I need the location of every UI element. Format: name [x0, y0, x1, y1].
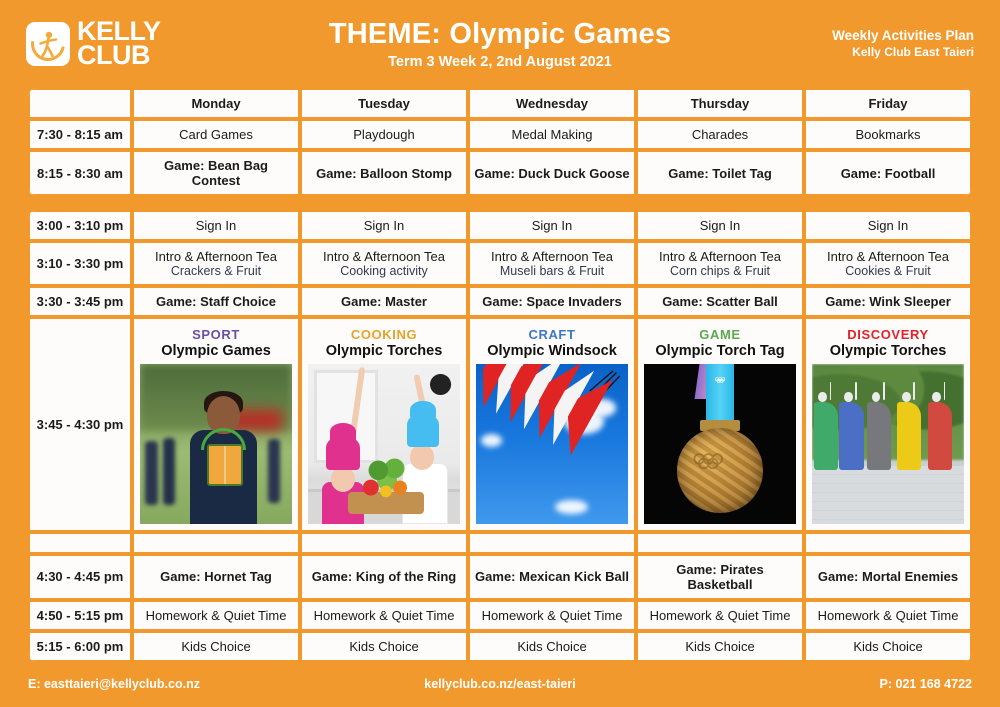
- category-label-sport: SPORT: [140, 327, 292, 343]
- gold-medal-photo: [644, 364, 796, 524]
- spacer-cell: [636, 532, 804, 554]
- tea-cell: Intro & Afternoon Tea Corn chips & Fruit: [636, 241, 804, 286]
- category-label-discovery: DISCOVERY: [812, 327, 964, 343]
- activity-block-game: GAME Olympic Torch Tag: [636, 317, 804, 532]
- spacer-cell: [468, 532, 636, 554]
- signin-cell: Sign In: [468, 210, 636, 241]
- weekly-activities-plan-page: KELLY CLUB THEME: Olympic Games Term 3 W…: [0, 0, 1000, 707]
- morning-table-wrap: Monday Tuesday Wednesday Thursday Friday…: [0, 88, 1000, 196]
- activity-cell: Card Games: [132, 119, 300, 150]
- category-label-craft: CRAFT: [476, 327, 628, 343]
- game-cell: Game: Toilet Tag: [636, 150, 804, 196]
- day-header-monday: Monday: [132, 88, 300, 119]
- homework-cell: Homework & Quiet Time: [636, 600, 804, 631]
- table-gap: [0, 196, 1000, 210]
- time-label: 3:45 - 4:30 pm: [28, 317, 132, 532]
- spacer-cell: [804, 532, 972, 554]
- spacer-cell: [28, 532, 132, 554]
- tea-sub-label: Cookies & Fruit: [810, 264, 966, 278]
- kids-choice-cell: Kids Choice: [636, 631, 804, 662]
- torch-runner-statues-photo: [812, 364, 964, 524]
- activity-title: Olympic Torch Tag: [644, 343, 796, 360]
- game-cell: Game: Football: [804, 150, 972, 196]
- footer-email[interactable]: E: easttaieri@kellyclub.co.nz: [28, 677, 340, 691]
- homework-cell: Homework & Quiet Time: [804, 600, 972, 631]
- game-cell: Game: Duck Duck Goose: [468, 150, 636, 196]
- game-cell: Game: Bean Bag Contest: [132, 150, 300, 196]
- time-label: 8:15 - 8:30 am: [28, 150, 132, 196]
- table-row: 4:30 - 4:45 pm Game: Hornet Tag Game: Ki…: [28, 554, 972, 600]
- table-row: 3:10 - 3:30 pm Intro & Afternoon Tea Cra…: [28, 241, 972, 286]
- signin-cell: Sign In: [132, 210, 300, 241]
- tea-sub-label: Crackers & Fruit: [138, 264, 294, 278]
- kelly-club-runner-logo-icon: [26, 22, 70, 66]
- kids-cooking-photo: [308, 364, 460, 524]
- spacer-cell: [132, 532, 300, 554]
- page-footer: E: easttaieri@kellyclub.co.nz kellyclub.…: [0, 661, 1000, 707]
- header-meta: Weekly Activities Plan Kelly Club East T…: [764, 28, 974, 60]
- time-label: 7:30 - 8:15 am: [28, 119, 132, 150]
- game-cell: Game: Balloon Stomp: [300, 150, 468, 196]
- table-row: 3:00 - 3:10 pm Sign In Sign In Sign In S…: [28, 210, 972, 241]
- day-header-friday: Friday: [804, 88, 972, 119]
- title-block: THEME: Olympic Games Term 3 Week 2, 2nd …: [236, 18, 764, 70]
- time-label: 4:30 - 4:45 pm: [28, 554, 132, 600]
- page-title: THEME: Olympic Games: [236, 18, 764, 51]
- time-label: 4:50 - 5:15 pm: [28, 600, 132, 631]
- kids-choice-cell: Kids Choice: [132, 631, 300, 662]
- activity-title: Olympic Windsock: [476, 343, 628, 360]
- activity-cell: Charades: [636, 119, 804, 150]
- activity-cell: Medal Making: [468, 119, 636, 150]
- activity-title: Olympic Games: [140, 343, 292, 360]
- tea-sub-label: Cooking activity: [306, 264, 462, 278]
- tea-main-label: Intro & Afternoon Tea: [642, 249, 798, 264]
- homework-cell: Homework & Quiet Time: [300, 600, 468, 631]
- game-cell: Game: King of the Ring: [300, 554, 468, 600]
- signin-cell: Sign In: [804, 210, 972, 241]
- game-cell: Game: Mexican Kick Ball: [468, 554, 636, 600]
- table-row: 8:15 - 8:30 am Game: Bean Bag Contest Ga…: [28, 150, 972, 196]
- tea-cell: Intro & Afternoon Tea Museli bars & Frui…: [468, 241, 636, 286]
- kelly-club-wordmark: KELLY CLUB: [77, 20, 161, 68]
- game-cell: Game: Mortal Enemies: [804, 554, 972, 600]
- category-label-game: GAME: [644, 327, 796, 343]
- corner-cell: [28, 88, 132, 119]
- page-subtitle: Term 3 Week 2, 2nd August 2021: [236, 54, 764, 70]
- afternoon-table-wrap: 3:00 - 3:10 pm Sign In Sign In Sign In S…: [0, 210, 1000, 662]
- activity-cell: Playdough: [300, 119, 468, 150]
- activity-block-discovery: DISCOVERY Olympic Torches: [804, 317, 972, 532]
- club-location: Kelly Club East Taieri: [764, 45, 974, 61]
- homework-cell: Homework & Quiet Time: [132, 600, 300, 631]
- activity-block-craft: CRAFT Olympic Windsock: [468, 317, 636, 532]
- table-header-row: Monday Tuesday Wednesday Thursday Friday: [28, 88, 972, 119]
- tea-main-label: Intro & Afternoon Tea: [474, 249, 630, 264]
- table-row: 5:15 - 6:00 pm Kids Choice Kids Choice K…: [28, 631, 972, 662]
- plan-label: Weekly Activities Plan: [764, 28, 974, 45]
- activity-block-cooking: COOKING Olympic Torches: [300, 317, 468, 532]
- activity-title: Olympic Torches: [812, 343, 964, 360]
- tea-cell: Intro & Afternoon Tea Crackers & Fruit: [132, 241, 300, 286]
- tea-main-label: Intro & Afternoon Tea: [138, 249, 294, 264]
- windsock-sky-photo: [476, 364, 628, 524]
- footer-phone[interactable]: P: 021 168 4722: [660, 677, 972, 691]
- activity-title: Olympic Torches: [308, 343, 460, 360]
- time-label: 5:15 - 6:00 pm: [28, 631, 132, 662]
- game-cell: Game: Pirates Basketball: [636, 554, 804, 600]
- signin-cell: Sign In: [300, 210, 468, 241]
- morning-schedule-table: Monday Tuesday Wednesday Thursday Friday…: [28, 88, 972, 196]
- kids-choice-cell: Kids Choice: [804, 631, 972, 662]
- game-cell: Game: Space Invaders: [468, 286, 636, 317]
- tea-sub-label: Corn chips & Fruit: [642, 264, 798, 278]
- time-label: 3:00 - 3:10 pm: [28, 210, 132, 241]
- day-header-tuesday: Tuesday: [300, 88, 468, 119]
- footer-website[interactable]: kellyclub.co.nz/east-taieri: [340, 677, 661, 691]
- spacer-cell: [300, 532, 468, 554]
- main-activity-row: 3:45 - 4:30 pm SPORT Olympic Games: [28, 317, 972, 532]
- table-row: 3:30 - 3:45 pm Game: Staff Choice Game: …: [28, 286, 972, 317]
- logo-line-2: CLUB: [77, 44, 161, 68]
- kids-choice-cell: Kids Choice: [300, 631, 468, 662]
- activity-block-sport: SPORT Olympic Games: [132, 317, 300, 532]
- afternoon-schedule-table: 3:00 - 3:10 pm Sign In Sign In Sign In S…: [28, 210, 972, 662]
- time-label: 3:30 - 3:45 pm: [28, 286, 132, 317]
- game-cell: Game: Staff Choice: [132, 286, 300, 317]
- category-label-cooking: COOKING: [308, 327, 460, 343]
- day-header-thursday: Thursday: [636, 88, 804, 119]
- game-cell: Game: Hornet Tag: [132, 554, 300, 600]
- game-cell: Game: Master: [300, 286, 468, 317]
- activity-cell: Bookmarks: [804, 119, 972, 150]
- time-label: 3:10 - 3:30 pm: [28, 241, 132, 286]
- table-row: 7:30 - 8:15 am Card Games Playdough Meda…: [28, 119, 972, 150]
- signin-cell: Sign In: [636, 210, 804, 241]
- tea-cell: Intro & Afternoon Tea Cookies & Fruit: [804, 241, 972, 286]
- game-cell: Game: Wink Sleeper: [804, 286, 972, 317]
- table-row: 4:50 - 5:15 pm Homework & Quiet Time Hom…: [28, 600, 972, 631]
- game-cell: Game: Scatter Ball: [636, 286, 804, 317]
- tea-main-label: Intro & Afternoon Tea: [810, 249, 966, 264]
- homework-cell: Homework & Quiet Time: [468, 600, 636, 631]
- page-header: KELLY CLUB THEME: Olympic Games Term 3 W…: [0, 0, 1000, 88]
- tea-sub-label: Museli bars & Fruit: [474, 264, 630, 278]
- kids-choice-cell: Kids Choice: [468, 631, 636, 662]
- day-header-wednesday: Wednesday: [468, 88, 636, 119]
- tea-main-label: Intro & Afternoon Tea: [306, 249, 462, 264]
- spacer-row: [28, 532, 972, 554]
- tea-cell: Intro & Afternoon Tea Cooking activity: [300, 241, 468, 286]
- child-with-medal-photo: [140, 364, 292, 524]
